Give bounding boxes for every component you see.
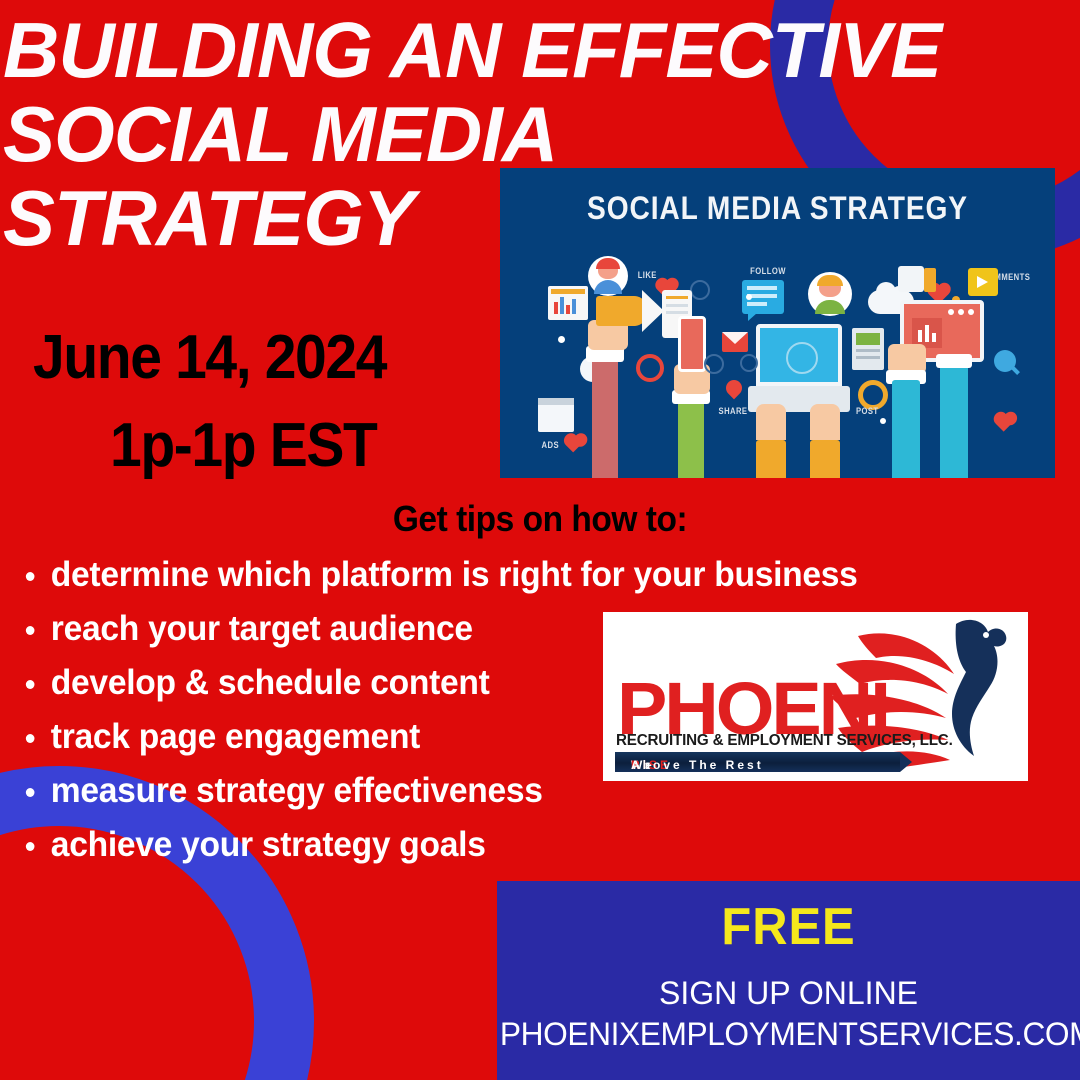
hero-image-title: SOCIAL MEDIA STRATEGY	[533, 190, 1021, 227]
phoenix-logo: PHOENI RECRUITING & EMPLOYMENT SERVICES,…	[603, 612, 1028, 781]
search-icon	[994, 350, 1016, 372]
newspaper-icon	[852, 328, 884, 370]
avatar-icon-1	[588, 256, 628, 296]
event-time: 1p-1p EST	[110, 410, 376, 481]
list-item: determine which platform is right for yo…	[22, 548, 924, 602]
dot-decor-2	[746, 294, 752, 300]
ring-decor-2	[704, 354, 724, 374]
price-badge: FREE	[514, 897, 1062, 957]
social-media-strategy-image: SOCIAL MEDIA STRATEGY LIKE FOLLOW	[500, 168, 1055, 478]
email-icon	[722, 332, 748, 352]
arm-laptop-right	[810, 440, 840, 478]
arm-megaphone	[592, 358, 618, 478]
arm-laptop-left	[756, 440, 786, 478]
thumb-stack-icon	[924, 268, 936, 292]
logo-slogan-bar: We RISE Above The Rest	[615, 752, 900, 772]
dot-decor-3	[880, 418, 886, 424]
target-icon	[636, 354, 664, 382]
hero-label-like: LIKE	[638, 270, 657, 280]
cuff-4	[936, 354, 972, 368]
smartphone-icon	[678, 316, 706, 372]
calendar-icon	[538, 398, 574, 432]
slogan-post: Above The Rest	[631, 758, 764, 772]
hand-typing-left	[756, 404, 786, 440]
ring-decor-3	[740, 354, 758, 372]
hero-label-ads: ADS	[542, 440, 559, 450]
avatar-icon-2	[808, 272, 852, 316]
signup-instruction: SIGN UP ONLINE	[497, 975, 1080, 1012]
arm-phone	[678, 400, 704, 478]
arm-tablet-right	[940, 364, 968, 478]
hero-label-follow: FOLLOW	[750, 266, 786, 276]
chart-card-icon	[548, 286, 588, 320]
signup-panel: FREE SIGN UP ONLINE PHOENIXEMPLOYMENTSER…	[497, 881, 1080, 1080]
location-pin-icon	[723, 377, 746, 400]
signup-url[interactable]: PHOENIXEMPLOYMENTSERVICES.COM	[500, 1016, 1077, 1053]
thumbs-up-icon	[898, 266, 924, 292]
video-icon	[968, 268, 998, 296]
laptop-screen	[756, 324, 842, 386]
hero-label-share: SHARE	[719, 406, 748, 416]
megaphone-icon	[596, 296, 648, 326]
arm-tablet-left	[892, 380, 920, 478]
list-item: achieve your strategy goals	[22, 818, 924, 872]
dot-decor-1	[558, 336, 565, 343]
hand-typing-right	[810, 404, 840, 440]
hero-label-post: POST	[856, 406, 879, 416]
poster-canvas: BUILDING AN EFFECTIVE SOCIAL MEDIA STRAT…	[0, 0, 1080, 1080]
tips-heading: Get tips on how to:	[38, 498, 1042, 540]
logo-tagline: RECRUITING & EMPLOYMENT SERVICES, LLC.	[616, 732, 953, 750]
event-date: June 14, 2024	[33, 322, 386, 393]
ring-decor-1	[690, 280, 710, 300]
